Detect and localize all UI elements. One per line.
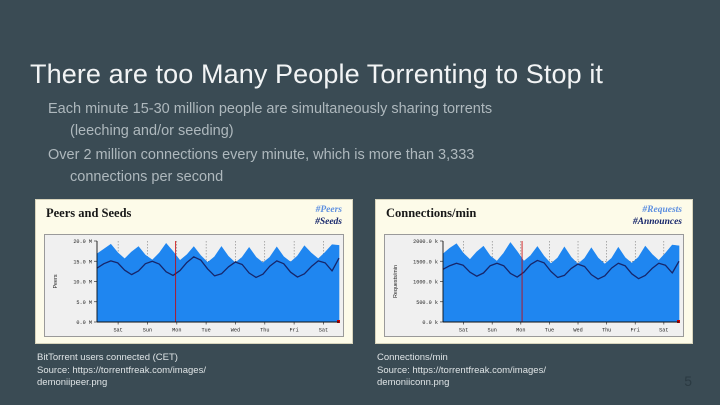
bullet-list: Each minute 15-30 million people are sim… (48, 98, 668, 190)
legend-entry-announces: #Announces (633, 217, 682, 229)
chart-title: Peers and Seeds (46, 206, 131, 221)
caption-line-2: Source: https://torrentfreak.com/images/ (377, 365, 697, 378)
svg-text:Requests/min: Requests/min (393, 265, 399, 298)
bullet-line-2: connections per second (48, 166, 668, 188)
chart-plot-area: Requests/min0.0 k500.0 k1000.0 k1500.0 k… (384, 234, 684, 337)
chart-header: Connections/min #Requests #Announces (384, 206, 684, 234)
svg-text:Sun: Sun (488, 328, 497, 334)
svg-text:Sat: Sat (659, 328, 668, 334)
chart-header: Peers and Seeds #Peers #Seeds (44, 206, 344, 234)
caption-line-1: BitTorrent users connected (CET) (37, 352, 357, 365)
svg-text:Wed: Wed (573, 328, 582, 334)
svg-text:Wed: Wed (231, 328, 240, 334)
svg-text:Tue: Tue (201, 328, 210, 334)
legend-entry-seeds: #Seeds (315, 217, 342, 229)
caption-line-3: demoniiconn.png (377, 377, 697, 390)
page-number: 5 (684, 373, 692, 389)
svg-text:Sat: Sat (113, 328, 122, 334)
caption-left: BitTorrent users connected (CET) Source:… (37, 352, 357, 390)
legend-entry-requests: #Requests (633, 205, 682, 217)
chart-card-connections-per-min: Connections/min #Requests #Announces Req… (375, 199, 693, 344)
caption-line-2: Source: https://torrentfreak.com/images/ (37, 365, 357, 378)
svg-text:1500.0 k: 1500.0 k (413, 259, 438, 265)
chart-plot-area: Peers0.0 M5.0 M10.0 M15.0 M20.0 MSatSunM… (44, 234, 344, 337)
bullet-line-1: Over 2 million connections every minute,… (48, 147, 474, 163)
svg-text:2000.0 k: 2000.0 k (413, 239, 438, 245)
svg-text:20.0 M: 20.0 M (73, 239, 92, 245)
svg-text:500.0 k: 500.0 k (416, 300, 438, 306)
svg-text:Tue: Tue (545, 328, 554, 334)
svg-text:15.0 M: 15.0 M (73, 259, 92, 265)
bullet-line-1: Each minute 15-30 million people are sim… (48, 101, 492, 117)
svg-text:Thu: Thu (602, 328, 611, 334)
svg-text:0.0 M: 0.0 M (76, 320, 92, 326)
caption-right: Connections/min Source: https://torrentf… (377, 352, 697, 390)
svg-text:Mon: Mon (516, 328, 525, 334)
svg-text:Fri: Fri (631, 328, 640, 334)
svg-text:Sat: Sat (319, 328, 328, 334)
chart-legend: #Peers #Seeds (315, 205, 342, 228)
svg-text:Sat: Sat (459, 328, 468, 334)
svg-text:Peers: Peers (53, 274, 59, 288)
svg-text:Sun: Sun (143, 328, 152, 334)
svg-text:10.0 M: 10.0 M (73, 280, 92, 286)
svg-text:5.0 M: 5.0 M (76, 300, 92, 306)
svg-text:0.0 k: 0.0 k (422, 320, 438, 326)
slide: There are too Many People Torrenting to … (0, 0, 720, 405)
legend-entry-peers: #Peers (315, 205, 342, 217)
svg-text:Thu: Thu (260, 328, 269, 334)
svg-text:Fri: Fri (289, 328, 298, 334)
caption-line-1: Connections/min (377, 352, 697, 365)
list-item: Each minute 15-30 million people are sim… (48, 98, 668, 142)
page-title: There are too Many People Torrenting to … (30, 58, 690, 90)
chart-title: Connections/min (386, 206, 476, 221)
list-item: Over 2 million connections every minute,… (48, 144, 668, 188)
chart-card-peers-and-seeds: Peers and Seeds #Peers #Seeds Peers0.0 M… (35, 199, 353, 344)
chart-legend: #Requests #Announces (633, 205, 682, 228)
svg-text:Mon: Mon (172, 328, 181, 334)
caption-line-3: demoniipeer.png (37, 377, 357, 390)
bullet-line-2: (leeching and/or seeding) (48, 120, 668, 142)
svg-text:1000.0 k: 1000.0 k (413, 280, 438, 286)
